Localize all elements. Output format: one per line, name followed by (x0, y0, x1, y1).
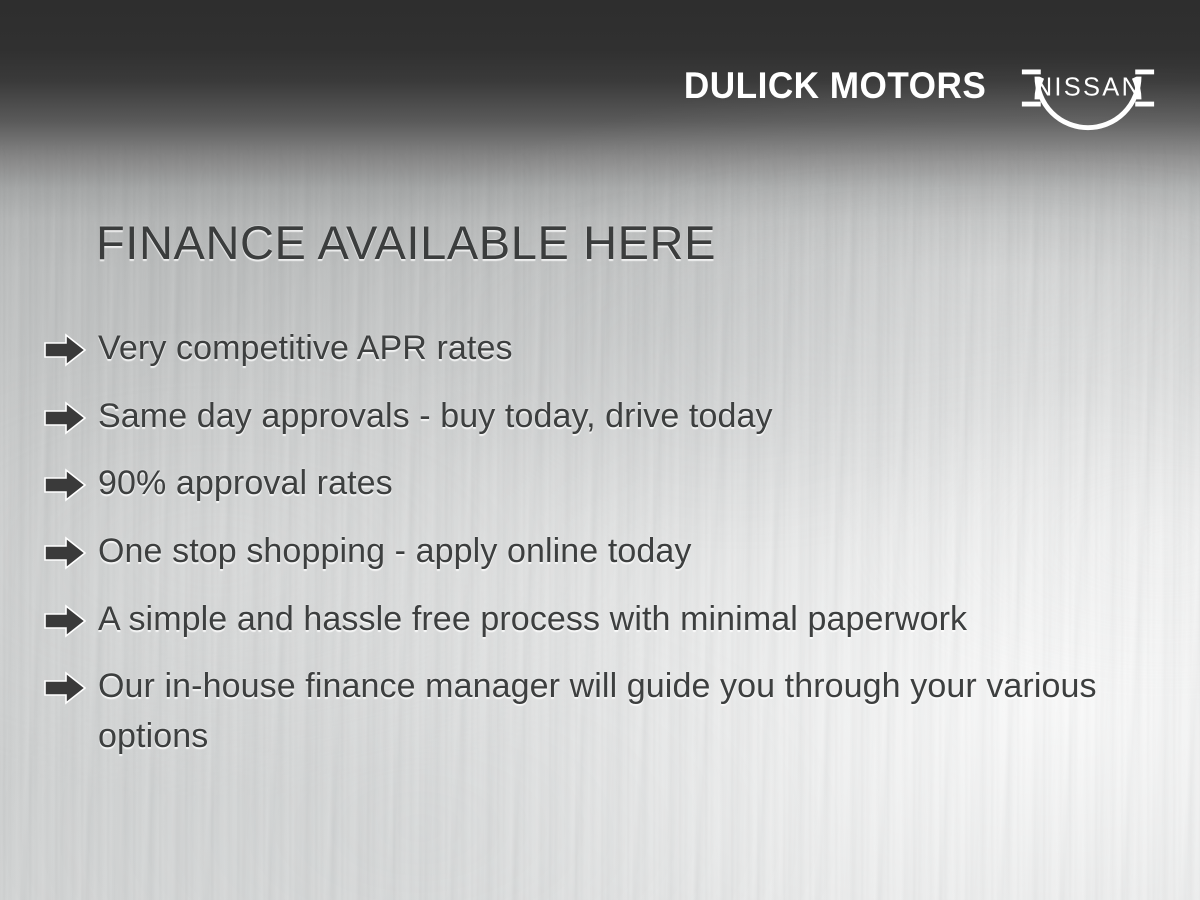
list-item: Same day approvals - buy today, drive to… (44, 392, 1160, 442)
finance-slide: DULICK MOTORS NISSAN FINANCE AVAILABLE H… (0, 0, 1200, 900)
list-item: Very competitive APR rates (44, 324, 1160, 374)
nissan-logo: NISSAN (1012, 20, 1164, 156)
right-arrow-icon (44, 468, 86, 502)
list-item: A simple and hassle free process with mi… (44, 595, 1160, 645)
list-item-label: One stop shopping - apply online today (98, 527, 692, 577)
list-item-label: Same day approvals - buy today, drive to… (98, 392, 773, 442)
list-item: One stop shopping - apply online today (44, 527, 1160, 577)
page-title: FINANCE AVAILABLE HERE (96, 215, 716, 270)
right-arrow-icon (44, 604, 86, 638)
dealership-brand-name: DULICK MOTORS (684, 65, 986, 107)
list-item-label: 90% approval rates (98, 459, 393, 509)
list-item-label: Our in-house finance manager will guide … (98, 662, 1160, 761)
bullet-list: Very competitive APR rates Same day appr… (44, 324, 1160, 779)
right-arrow-icon (44, 671, 86, 705)
right-arrow-icon (44, 536, 86, 570)
right-arrow-icon (44, 333, 86, 367)
list-item: 90% approval rates (44, 459, 1160, 509)
slide-header: DULICK MOTORS NISSAN (0, 0, 1200, 175)
list-item: Our in-house finance manager will guide … (44, 662, 1160, 761)
right-arrow-icon (44, 401, 86, 435)
list-item-label: A simple and hassle free process with mi… (98, 595, 967, 645)
list-item-label: Very competitive APR rates (98, 324, 513, 374)
nissan-wordmark: NISSAN (1034, 73, 1143, 101)
